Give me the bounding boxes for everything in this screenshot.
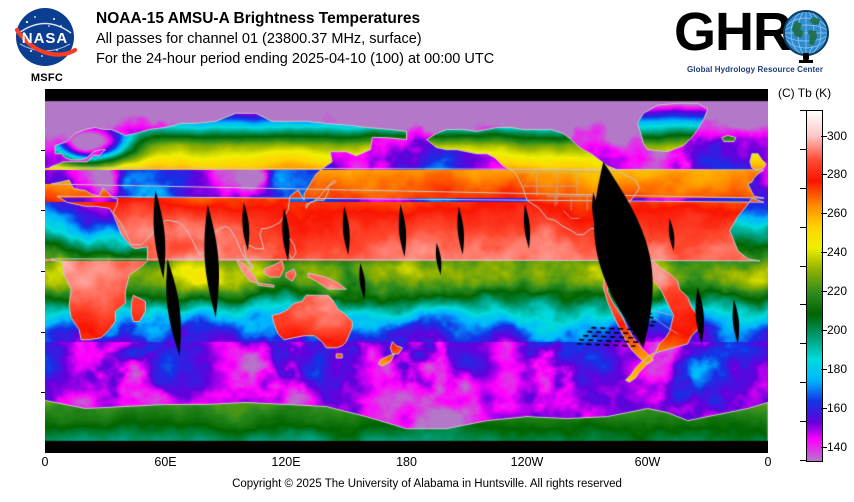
colorbar-kelvin-label: 140 — [827, 440, 847, 454]
map-x-axis-label: 0 — [765, 455, 772, 469]
copyright-notice: Copyright © 2025 The University of Alaba… — [0, 478, 854, 490]
header-subtitle-channel: All passes for channel 01 (23800.37 MHz,… — [96, 29, 696, 49]
header-subtitle-period: For the 24-hour period ending 2025-04-10… — [96, 49, 696, 69]
colorbar-kelvin-tick — [821, 136, 827, 137]
svg-text:NASA: NASA — [22, 30, 69, 47]
colorbar-celsius-tick — [800, 343, 806, 344]
colorbar-kelvin-tick — [821, 213, 827, 214]
colorbar-gradient — [807, 111, 822, 461]
nasa-center-label: MSFC — [9, 72, 85, 84]
colorbar-celsius-tick — [800, 382, 806, 383]
colorbar-celsius-tick — [800, 266, 806, 267]
map-x-axis-label: 180 — [396, 455, 417, 469]
map-y-axis-tick — [41, 210, 45, 211]
colorbar-kelvin-tick — [821, 291, 827, 292]
colorbar-kelvin-tick — [821, 330, 827, 331]
colorbar-celsius-tick — [800, 421, 806, 422]
map-x-axis-label: 0 — [42, 455, 49, 469]
colorbar — [806, 110, 823, 462]
colorbar-kelvin-label: 180 — [827, 362, 847, 376]
colorbar-celsius-tick — [800, 149, 806, 150]
colorbar-kelvin-tick — [821, 174, 827, 175]
colorbar-kelvin-label: 200 — [827, 323, 847, 337]
ghrc-wordmark-icon: GHR — [672, 4, 838, 66]
header-block: NOAA-15 AMSU-A Brightness Temperatures A… — [96, 9, 696, 69]
map-y-axis-tick — [41, 392, 45, 393]
map-x-axis-label: 60E — [154, 455, 176, 469]
map-y-axis-tick — [41, 150, 45, 151]
colorbar-celsius-tick — [800, 304, 806, 305]
colorbar-kelvin-label: 160 — [827, 401, 847, 415]
colorbar-kelvin-label: 220 — [827, 284, 847, 298]
map-x-axis-label: 120E — [271, 455, 300, 469]
map-y-axis-tick — [41, 332, 45, 333]
svg-text:GHR: GHR — [674, 4, 791, 62]
colorbar-celsius-tick — [800, 227, 806, 228]
colorbar-kelvin-label: 260 — [827, 206, 847, 220]
map-raster[interactable] — [45, 89, 768, 453]
map-x-axis-label: 120W — [511, 455, 544, 469]
brightness-temperature-map[interactable] — [45, 89, 768, 453]
colorbar-celsius-tick — [800, 460, 806, 461]
colorbar-header: (C) Tb (K) — [778, 86, 831, 100]
ghrc-subtitle: Global Hydrology Resource Center — [674, 65, 836, 74]
map-y-axis-tick — [41, 271, 45, 272]
colorbar-kelvin-label: 240 — [827, 245, 847, 259]
nasa-meatball-icon: NASA — [9, 6, 85, 70]
page-title: NOAA-15 AMSU-A Brightness Temperatures — [96, 9, 696, 29]
colorbar-kelvin-tick — [821, 447, 827, 448]
colorbar-kelvin-tick — [821, 252, 827, 253]
colorbar-kelvin-tick — [821, 369, 827, 370]
colorbar-kelvin-tick — [821, 408, 827, 409]
nasa-logo: NASA MSFC — [9, 6, 85, 82]
map-x-axis-label: 60W — [635, 455, 661, 469]
colorbar-kelvin-label: 300 — [827, 129, 847, 143]
colorbar-celsius-tick — [800, 110, 806, 111]
colorbar-celsius-tick — [800, 188, 806, 189]
colorbar-kelvin-label: 280 — [827, 167, 847, 181]
ghrc-logo: GHR Global Hydrology Resource Center — [672, 4, 838, 76]
